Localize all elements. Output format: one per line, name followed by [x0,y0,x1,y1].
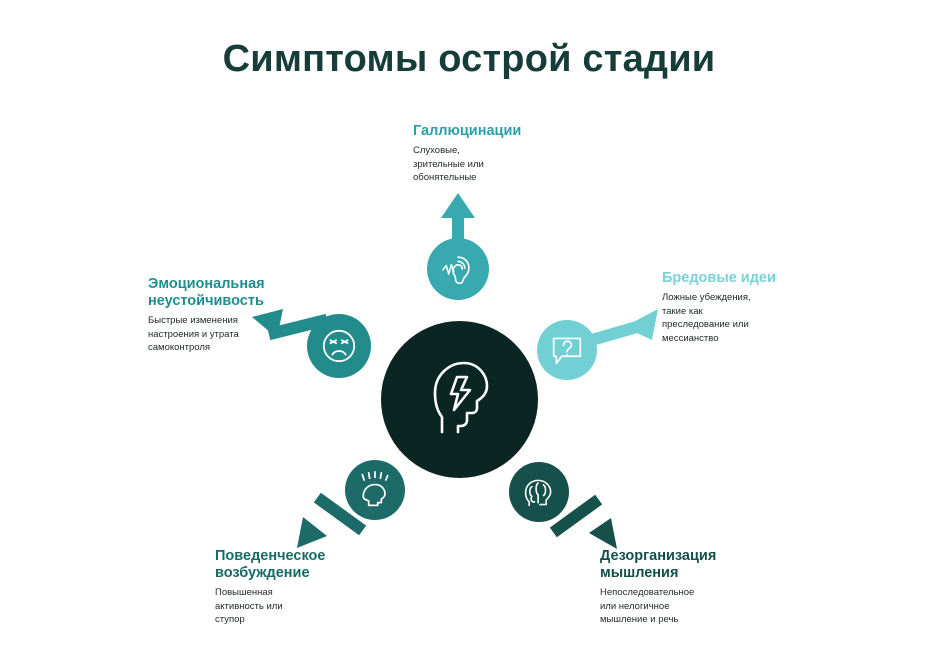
head-energy-icon [356,471,394,509]
node-emotional[interactable] [307,314,371,378]
body-agitation: Повышенная активность или ступор [215,586,415,627]
text-block-emotional: Эмоциональная неустойчивость Быстрые изм… [148,276,298,355]
heading-emotional: Эмоциональная неустойчивость [148,276,298,310]
text-block-delusions: Бредовые идеи Ложные убеждения, такие ка… [662,270,842,345]
text-block-disorganized: Дезорганизация мышления Непоследовательн… [600,548,815,627]
heading-agitation: Поведенческое возбуждение [215,548,415,582]
node-hallucinations[interactable] [427,238,489,300]
arrow-delusions [587,309,658,346]
node-agitation[interactable] [345,460,405,520]
ear-sound-icon [439,253,477,285]
text-block-agitation: Поведенческое возбуждение Повышенная акт… [215,548,415,627]
heading-delusions: Бредовые идеи [662,270,842,287]
speech-bubble-question-icon [549,334,585,366]
heading-disorganized: Дезорганизация мышления [600,548,815,582]
body-delusions: Ложные убеждения, такие как преследовани… [662,291,842,345]
head-lightning-icon [425,358,495,441]
node-delusions[interactable] [537,320,597,380]
node-disorganized[interactable] [509,462,569,522]
infographic-canvas: Симптомы острой стадии [0,0,938,665]
heading-hallucinations: Галлюцинации [413,123,593,140]
tangled-brain-head-icon [520,475,558,509]
hub-circle [381,321,538,478]
text-block-hallucinations: Галлюцинации Слуховые, зрительные или об… [413,123,593,185]
body-disorganized: Непоследовательное или нелогичное мышлен… [600,586,815,627]
body-hallucinations: Слуховые, зрительные или обонятельные [413,144,593,185]
body-emotional: Быстрые изменения настроения и утрата са… [148,314,298,355]
sad-face-icon [320,327,358,365]
